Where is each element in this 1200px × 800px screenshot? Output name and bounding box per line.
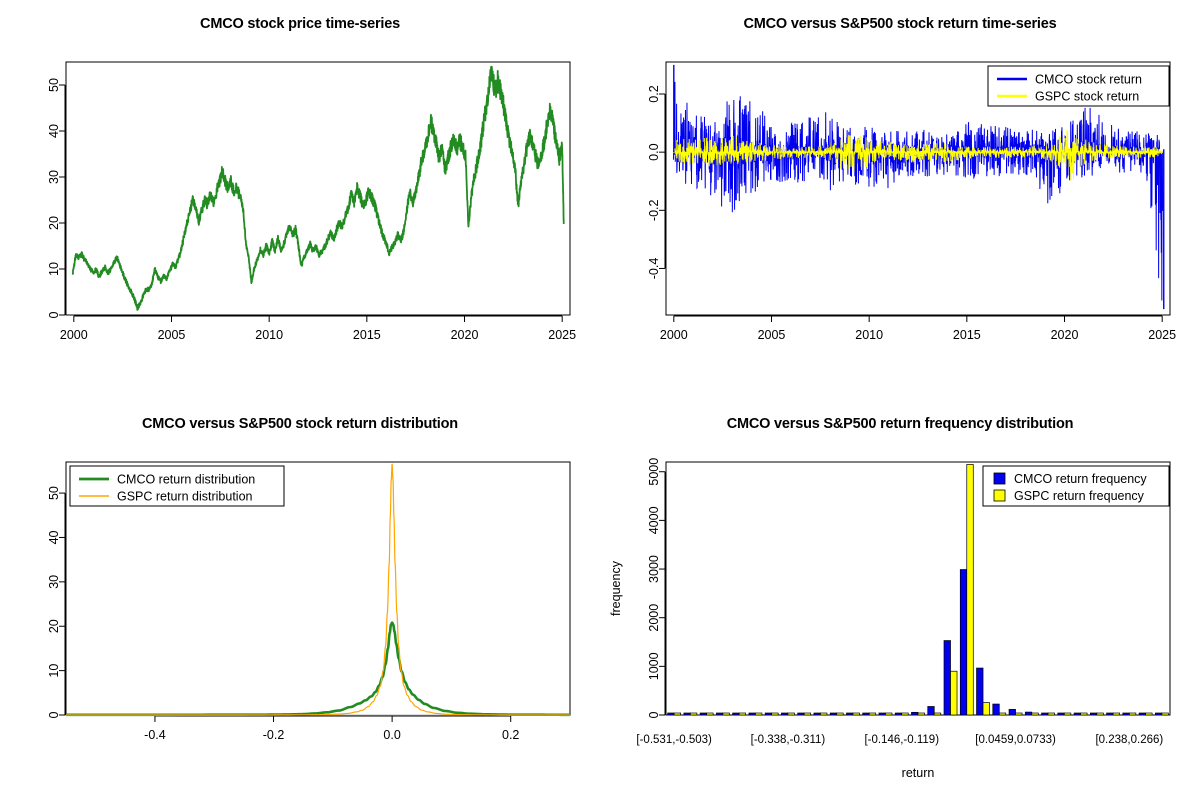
bar-cmco-22 <box>1025 712 1032 715</box>
x-tick-label: 2005 <box>758 328 786 342</box>
y-tick-label: 1000 <box>647 652 661 680</box>
bar-cmco-9 <box>814 713 821 715</box>
bar-cmco-4 <box>733 713 740 715</box>
bar-gspc-11 <box>853 713 860 715</box>
y-axis: 01020304050 <box>47 78 65 318</box>
x-tick-label: 2010 <box>255 328 283 342</box>
x-tick-label: 0.2 <box>502 728 519 742</box>
bar-cmco-8 <box>798 713 805 715</box>
bar-gspc-0 <box>674 713 681 715</box>
bar-cmco-7 <box>781 713 788 715</box>
x-tick-label: 0.0 <box>383 728 400 742</box>
bar-cmco-24 <box>1058 713 1065 715</box>
bar-gspc-1 <box>690 713 697 715</box>
y-tick-label: 50 <box>47 78 61 92</box>
legend-return-density: CMCO return distributionGSPC return dist… <box>70 466 284 506</box>
y-tick-label: 3000 <box>647 555 661 583</box>
y-tick-label: 10 <box>47 664 61 678</box>
y-tick-label: 40 <box>47 124 61 138</box>
bar-gspc-10 <box>837 713 844 715</box>
cmco-return-line <box>673 82 1162 301</box>
bar-cmco-19 <box>977 668 984 715</box>
legend-label-0: CMCO stock return <box>1035 73 1142 87</box>
x-tick-label: 2005 <box>158 328 186 342</box>
cmco-density-curve <box>66 623 570 715</box>
bar-cmco-5 <box>749 713 756 715</box>
bar-gspc-26 <box>1097 713 1104 715</box>
bar-gspc-18 <box>967 464 974 715</box>
bar-cmco-25 <box>1074 713 1081 715</box>
x-axis: 200020052010201520202025 <box>60 316 576 342</box>
x-tick-label: [0.238,0.266) <box>1095 734 1163 746</box>
bar-cmco-2 <box>700 713 707 715</box>
bar-cmco-14 <box>895 713 902 715</box>
panel-return-density: CMCO versus S&P500 stock return distribu… <box>0 400 600 800</box>
bar-gspc-13 <box>885 713 892 715</box>
x-tick-label: 2015 <box>953 328 981 342</box>
y-axis: -0.4-0.20.00.2 <box>647 85 665 279</box>
plot-frame <box>66 62 570 315</box>
y-tick-label: 40 <box>47 530 61 544</box>
y-tick-label: 0.0 <box>647 143 661 160</box>
y-tick-label: 0 <box>647 711 661 718</box>
x-tick-label: 2010 <box>855 328 883 342</box>
x-tick-label: -0.2 <box>263 728 285 742</box>
y-tick-label: -0.4 <box>647 258 661 280</box>
cmco-price-chart: 01020304050200020052010201520202025 <box>0 0 600 400</box>
return-series-chart: -0.4-0.20.00.2200020052010201520202025CM… <box>600 0 1200 400</box>
bar-gspc-21 <box>1016 713 1023 715</box>
bar-gspc-22 <box>1032 713 1039 715</box>
bar-gspc-16 <box>934 713 941 715</box>
y-tick-label: 20 <box>47 619 61 633</box>
bar-gspc-20 <box>999 713 1006 715</box>
bar-gspc-5 <box>755 713 762 715</box>
bar-cmco-20 <box>993 704 1000 715</box>
y-tick-label: 50 <box>47 486 61 500</box>
y-tick-label: 30 <box>47 575 61 589</box>
legend-return-series: CMCO stock returnGSPC stock return <box>988 66 1169 106</box>
x-tick-label: 2020 <box>451 328 479 342</box>
x-tick-label: -0.4 <box>144 728 166 742</box>
x-tick-label: 2000 <box>660 328 688 342</box>
bar-cmco-6 <box>765 713 772 715</box>
legend-swatch-0 <box>994 473 1005 484</box>
panel-return-histogram: CMCO versus S&P500 return frequency dist… <box>600 400 1200 800</box>
plot-grid: CMCO stock price time-series 01020304050… <box>0 0 1200 800</box>
legend-label-0: CMCO return frequency <box>1014 472 1147 486</box>
x-axis-title: return <box>902 766 935 780</box>
legend-swatch-1 <box>994 490 1005 501</box>
x-axis: [-0.531,-0.503)[-0.338,-0.311)[-0.146,-0… <box>636 734 1163 746</box>
bar-cmco-23 <box>1042 713 1049 715</box>
y-tick-label: 5000 <box>647 458 661 486</box>
bar-cmco-30 <box>1155 713 1162 715</box>
bar-gspc-17 <box>951 671 958 715</box>
return-histogram-chart: 010002000300040005000frequency[-0.531,-0… <box>600 400 1200 800</box>
bar-cmco-21 <box>1009 709 1016 715</box>
legend-label-1: GSPC return frequency <box>1014 489 1145 503</box>
bar-gspc-15 <box>918 713 925 715</box>
bar-cmco-26 <box>1090 713 1097 715</box>
bar-gspc-25 <box>1081 713 1088 715</box>
bar-cmco-12 <box>863 713 870 715</box>
y-axis: 01020304050 <box>47 486 65 718</box>
y-tick-label: -0.2 <box>647 199 661 221</box>
y-axis-title: frequency <box>609 560 623 616</box>
bar-cmco-16 <box>928 706 935 715</box>
bar-cmco-10 <box>830 713 837 715</box>
panel-cmco-price: CMCO stock price time-series 01020304050… <box>0 0 600 400</box>
bar-gspc-8 <box>804 713 811 715</box>
x-tick-label: 2020 <box>1051 328 1079 342</box>
bar-cmco-15 <box>912 712 919 715</box>
legend-return-histogram: CMCO return frequencyGSPC return frequen… <box>983 466 1169 506</box>
y-tick-label: 0 <box>47 711 61 718</box>
bar-cmco-17 <box>944 641 951 715</box>
x-tick-label: 2000 <box>60 328 88 342</box>
y-tick-label: 10 <box>47 262 61 276</box>
bar-gspc-7 <box>788 713 795 715</box>
bar-gspc-6 <box>772 713 779 715</box>
bar-cmco-3 <box>716 713 723 715</box>
panel-return-series: CMCO versus S&P500 stock return time-ser… <box>600 0 1200 400</box>
bar-gspc-9 <box>820 713 827 715</box>
bar-cmco-28 <box>1123 713 1130 715</box>
bar-gspc-3 <box>723 713 730 715</box>
x-tick-label: 2025 <box>548 328 576 342</box>
x-tick-label: 2025 <box>1148 328 1176 342</box>
bar-gspc-29 <box>1146 713 1153 715</box>
y-tick-label: 2000 <box>647 604 661 632</box>
bar-gspc-28 <box>1129 713 1136 715</box>
y-tick-label: 20 <box>47 216 61 230</box>
bar-cmco-18 <box>960 570 967 715</box>
bar-gspc-4 <box>739 713 746 715</box>
bar-gspc-23 <box>1048 713 1055 715</box>
bar-gspc-12 <box>869 713 876 715</box>
legend-label-1: GSPC stock return <box>1035 90 1139 104</box>
x-tick-label: 2015 <box>353 328 381 342</box>
y-tick-label: 0.2 <box>647 85 661 102</box>
return-density-chart: 01020304050-0.4-0.20.00.2CMCO return dis… <box>0 400 600 800</box>
x-tick-label: [-0.146,-0.119) <box>864 734 939 746</box>
bar-cmco-0 <box>668 713 675 715</box>
legend-label-0: CMCO return distribution <box>117 473 255 487</box>
bar-gspc-30 <box>1162 713 1169 715</box>
x-tick-label: [-0.338,-0.311) <box>751 734 826 746</box>
x-tick-label: [0.0459,0.0733) <box>975 734 1056 746</box>
y-tick-label: 0 <box>47 311 61 318</box>
bar-gspc-2 <box>707 713 714 715</box>
bar-gspc-19 <box>983 703 990 715</box>
bar-gspc-27 <box>1113 713 1120 715</box>
bar-gspc-24 <box>1064 713 1071 715</box>
bar-cmco-13 <box>879 713 886 715</box>
cmco-price-line <box>73 67 564 310</box>
bar-gspc-14 <box>902 713 909 715</box>
y-axis: 010002000300040005000 <box>647 458 665 719</box>
bar-cmco-1 <box>684 713 691 715</box>
bar-cmco-27 <box>1107 713 1114 715</box>
y-tick-label: 30 <box>47 170 61 184</box>
bar-cmco-11 <box>846 713 853 715</box>
x-tick-label: [-0.531,-0.503) <box>636 734 712 746</box>
legend-label-1: GSPC return distribution <box>117 490 253 504</box>
x-axis: -0.4-0.20.00.2 <box>144 716 519 742</box>
y-tick-label: 4000 <box>647 506 661 534</box>
x-axis: 200020052010201520202025 <box>660 316 1176 342</box>
bar-cmco-29 <box>1139 713 1146 715</box>
